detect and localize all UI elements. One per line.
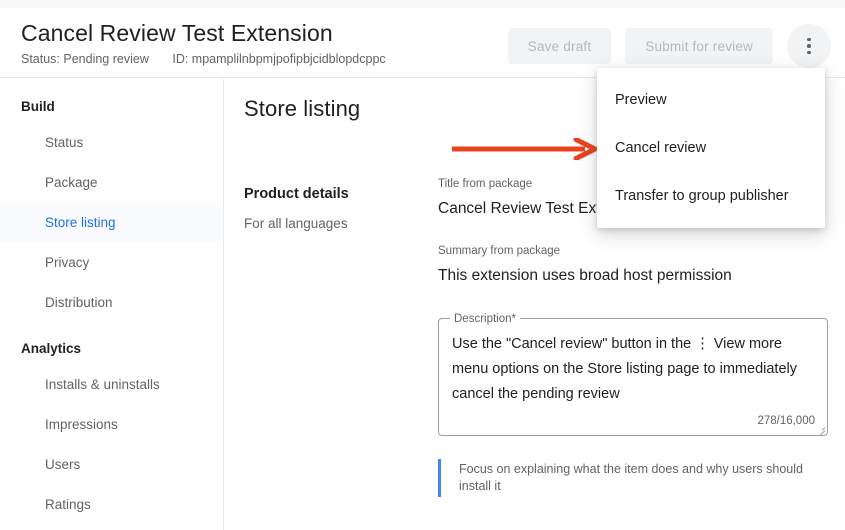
sidebar-item-installs-uninstalls[interactable]: Installs & uninstalls	[0, 365, 223, 405]
submit-for-review-button[interactable]: Submit for review	[625, 28, 773, 64]
description-character-counter: 278/16,000	[757, 415, 815, 427]
description-label: Description*	[450, 312, 520, 326]
sidebar-group-analytics: Analytics Installs & uninstalls Impressi…	[0, 335, 223, 525]
description-hint-callout: Focus on explaining what the item does a…	[438, 459, 828, 497]
sidebar-item-distribution[interactable]: Distribution	[0, 283, 223, 323]
page-title: Cancel Review Test Extension	[21, 18, 386, 48]
product-details-subtitle: For all languages	[244, 215, 434, 233]
section-heading-store-listing: Store listing	[244, 96, 360, 122]
textarea-resize-handle-icon[interactable]	[816, 424, 825, 433]
description-value[interactable]: Use the "Cancel review" button in the ⋮ …	[452, 332, 807, 407]
product-details-title: Product details	[244, 184, 434, 204]
app-page: Cancel Review Test Extension Status: Pen…	[0, 0, 845, 530]
description-textarea[interactable]: Description* Use the "Cancel review" but…	[438, 318, 828, 436]
sidebar-group-build: Build Status Package Store listing Priva…	[0, 93, 223, 323]
description-hint-text: Focus on explaining what the item does a…	[459, 461, 811, 495]
header-actions: Save draft Submit for review	[508, 24, 831, 68]
summary-from-package-field: Summary from package This extension uses…	[438, 244, 838, 287]
summary-from-package-value: This extension uses broad host permissio…	[438, 265, 838, 287]
sidebar: Build Status Package Store listing Priva…	[0, 79, 224, 530]
sidebar-item-status[interactable]: Status	[0, 123, 223, 163]
more-options-button[interactable]	[787, 24, 831, 68]
sidebar-item-privacy[interactable]: Privacy	[0, 243, 223, 283]
menu-item-preview[interactable]: Preview	[597, 76, 825, 124]
sidebar-item-users[interactable]: Users	[0, 445, 223, 485]
header-subline: Status: Pending review ID: mpamplilnbpmj…	[21, 51, 386, 67]
sidebar-item-package[interactable]: Package	[0, 163, 223, 203]
status-text: Status: Pending review	[21, 51, 149, 67]
sidebar-item-ratings[interactable]: Ratings	[0, 485, 223, 525]
save-draft-button[interactable]: Save draft	[508, 28, 612, 64]
summary-from-package-label: Summary from package	[438, 244, 838, 259]
extension-id-text: ID: mpamplilnbpmjpofipbjcidblopdcppc	[172, 51, 385, 67]
sidebar-group-title-analytics: Analytics	[0, 335, 223, 363]
menu-item-cancel-review[interactable]: Cancel review	[597, 124, 825, 172]
sidebar-item-store-listing[interactable]: Store listing	[0, 203, 223, 243]
browser-top-strip	[0, 0, 845, 8]
product-details-label-block: Product details For all languages	[244, 184, 434, 233]
menu-item-transfer-to-group-publisher[interactable]: Transfer to group publisher	[597, 172, 825, 220]
three-dots-vertical-icon	[807, 38, 811, 55]
header-title-block: Cancel Review Test Extension Status: Pen…	[21, 18, 386, 67]
more-options-menu: Preview Cancel review Transfer to group …	[597, 68, 825, 228]
sidebar-group-title-build: Build	[0, 93, 223, 121]
sidebar-item-impressions[interactable]: Impressions	[0, 405, 223, 445]
